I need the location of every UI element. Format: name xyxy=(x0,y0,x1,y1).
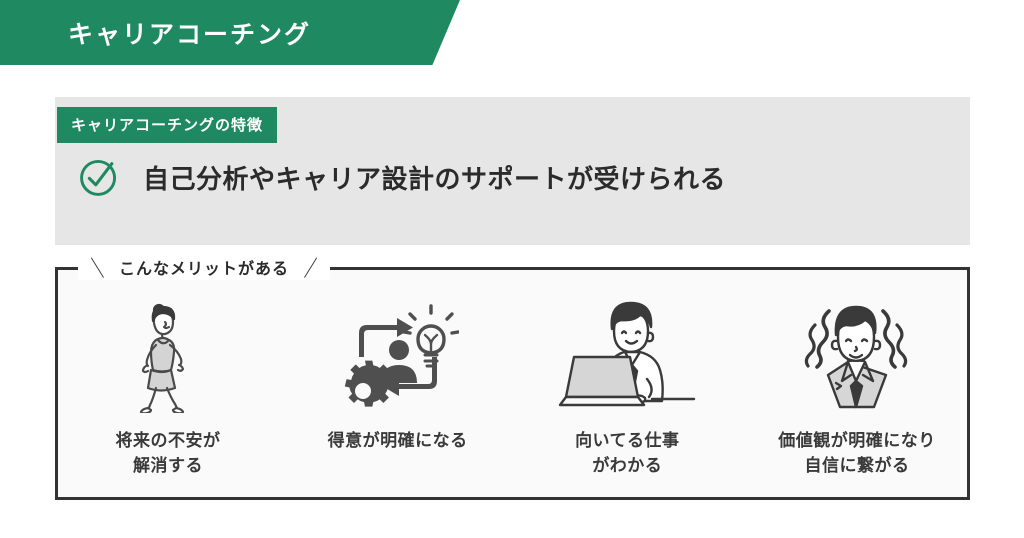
merit-label: 価値観が明確になり 自信に繋がる xyxy=(778,429,936,478)
page-title: キャリアコーチング xyxy=(68,15,311,51)
merits-box-legend: ＼ こんなメリットがある ／ xyxy=(78,254,330,280)
man-at-laptop-icon xyxy=(552,295,702,413)
header-banner: キャリアコーチング xyxy=(0,0,460,65)
feature-headline-row: 自己分析やキャリア設計のサポートが受けられる xyxy=(77,155,726,199)
merit-item: 得意が明確になる xyxy=(290,295,506,454)
merit-label: 将来の不安が 解消する xyxy=(116,429,221,478)
merit-item: 将来の不安が 解消する xyxy=(60,295,276,478)
merits-legend-label: こんなメリットがある xyxy=(119,255,289,279)
gear-person-lightbulb-icon xyxy=(337,295,459,413)
legend-slash-right-icon: ／ xyxy=(297,251,324,282)
walking-woman-icon xyxy=(112,295,224,413)
confident-person-aura-icon xyxy=(782,295,932,413)
merit-label: 得意が明確になる xyxy=(328,429,468,454)
merits-list: 将来の不安が 解消する xyxy=(60,295,965,478)
feature-tag-badge: キャリアコーチングの特徴 xyxy=(57,107,277,143)
check-circle-icon xyxy=(77,155,121,199)
feature-panel: キャリアコーチングの特徴 自己分析やキャリア設計のサポートが受けられる xyxy=(55,97,970,245)
merit-item: 価値観が明確になり 自信に繋がる xyxy=(749,295,965,478)
feature-headline: 自己分析やキャリア設計のサポートが受けられる xyxy=(143,159,726,196)
legend-slash-left-icon: ＼ xyxy=(84,251,111,282)
merit-label: 向いてる仕事 がわかる xyxy=(575,429,680,478)
merit-item: 向いてる仕事 がわかる xyxy=(519,295,735,478)
